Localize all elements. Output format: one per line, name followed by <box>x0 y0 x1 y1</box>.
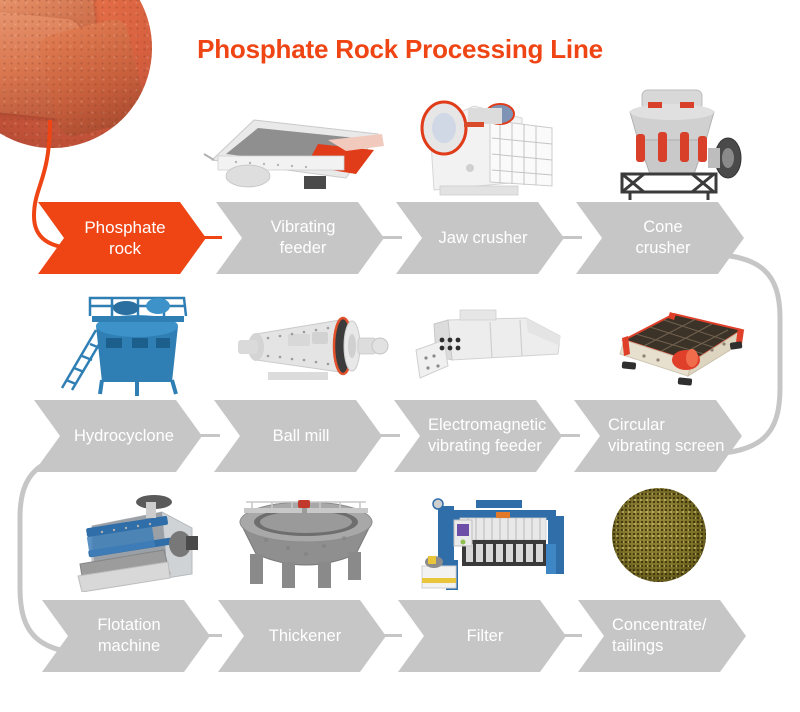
hydrocyclone-image <box>54 290 206 398</box>
cone-crusher-image <box>596 82 758 202</box>
step-cone-crusher[interactable]: Cone crusher <box>576 202 744 274</box>
row3-machine-images <box>0 478 800 600</box>
flow-row-1: Phosphate rock Vibrating feeder Jaw crus… <box>0 80 800 274</box>
row3-chevrons: Flotation machine Thickener Filter Conce… <box>0 600 800 672</box>
row1-machine-images <box>0 80 800 202</box>
step-circular-vibrating-screen[interactable]: Circular vibrating screen <box>574 400 742 472</box>
step-phosphate-rock[interactable]: Phosphate rock <box>38 202 206 274</box>
flow-row-3: Flotation machine Thickener Filter Conce… <box>0 478 800 672</box>
row2-chevrons: Hydrocyclone Ball mill Electromagnetic v… <box>0 400 800 472</box>
step-hydrocyclone[interactable]: Hydrocyclone <box>34 400 202 472</box>
step-concentrate-tailings[interactable]: Concentrate/ tailings <box>578 600 746 672</box>
step-label: Concentrate/ tailings <box>578 615 746 657</box>
step-electromagnetic-vibrating-feeder[interactable]: Electromagnetic vibrating feeder <box>394 400 562 472</box>
electromagnetic-vibrating-feeder-image <box>408 306 568 390</box>
step-filter[interactable]: Filter <box>398 600 566 672</box>
concentrate-tailings-image <box>612 488 706 582</box>
step-label: Filter <box>398 626 566 647</box>
step-ball-mill[interactable]: Ball mill <box>214 400 382 472</box>
jaw-crusher-image <box>404 86 568 202</box>
flow-row-2: Hydrocyclone Ball mill Electromagnetic v… <box>0 278 800 472</box>
step-label: Vibrating feeder <box>216 217 384 259</box>
circular-vibrating-screen-image <box>600 296 760 392</box>
step-jaw-crusher[interactable]: Jaw crusher <box>396 202 564 274</box>
step-thickener[interactable]: Thickener <box>218 600 386 672</box>
ball-mill-image <box>228 298 394 392</box>
step-label: Electromagnetic vibrating feeder <box>394 415 562 457</box>
step-label: Circular vibrating screen <box>574 415 742 457</box>
step-label: Phosphate rock <box>38 217 206 259</box>
step-label: Hydrocyclone <box>34 426 202 447</box>
step-flotation-machine[interactable]: Flotation machine <box>42 600 210 672</box>
step-label: Thickener <box>218 626 386 647</box>
filter-press-image <box>410 490 570 592</box>
step-vibrating-feeder[interactable]: Vibrating feeder <box>216 202 384 274</box>
row1-chevrons: Phosphate rock Vibrating feeder Jaw crus… <box>0 202 800 274</box>
step-label: Flotation machine <box>42 615 210 657</box>
step-label: Ball mill <box>214 426 382 447</box>
vibrating-feeder-image <box>196 94 392 198</box>
step-label: Cone crusher <box>576 217 744 259</box>
flotation-machine-image <box>58 492 210 592</box>
step-label: Jaw crusher <box>396 228 564 249</box>
thickener-image <box>226 492 386 590</box>
row2-machine-images <box>0 278 800 400</box>
